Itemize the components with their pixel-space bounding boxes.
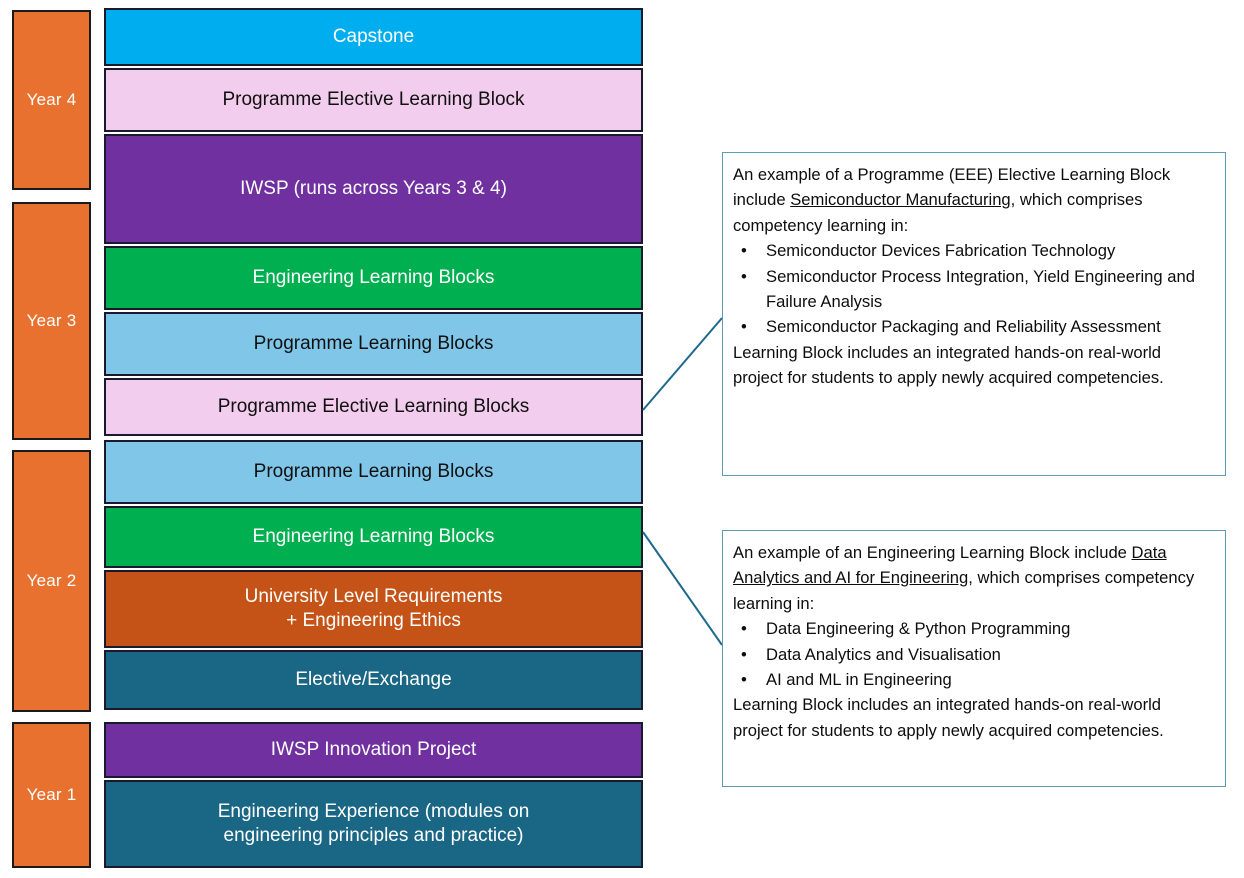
year-label: Year 4 bbox=[27, 90, 77, 110]
block-programme-elective-learning-block-y4: Programme Elective Learning Block bbox=[104, 68, 643, 132]
year-box-year-4: Year 4 bbox=[12, 10, 91, 190]
callout-outro: Learning Block includes an integrated ha… bbox=[733, 692, 1215, 743]
year-box-year-3: Year 3 bbox=[12, 202, 91, 440]
year-label: Year 3 bbox=[27, 311, 77, 331]
block-label: Programme Learning Blocks bbox=[254, 460, 494, 484]
block-iwsp-innovation-project: IWSP Innovation Project bbox=[104, 722, 643, 778]
list-item: Data Engineering & Python Programming bbox=[733, 616, 1215, 641]
block-label: Capstone bbox=[333, 25, 414, 49]
block-programme-elective-learning-blocks-y3: Programme Elective Learning Blocks bbox=[104, 378, 643, 436]
year-label: Year 1 bbox=[27, 785, 77, 805]
block-iwsp: IWSP (runs across Years 3 & 4) bbox=[104, 134, 643, 244]
block-label: IWSP (runs across Years 3 & 4) bbox=[240, 177, 507, 201]
callout-engineering-learning-block: An example of an Engineering Learning Bl… bbox=[722, 530, 1226, 787]
block-label: Engineering Learning Blocks bbox=[253, 266, 495, 290]
block-capstone: Capstone bbox=[104, 8, 643, 66]
list-item: Semiconductor Packaging and Reliability … bbox=[733, 314, 1215, 339]
block-label: University Level Requirements + Engineer… bbox=[245, 585, 503, 634]
list-item: Semiconductor Devices Fabrication Techno… bbox=[733, 238, 1215, 263]
list-item: Semiconductor Process Integration, Yield… bbox=[733, 264, 1215, 315]
year-box-year-2: Year 2 bbox=[12, 450, 91, 712]
block-label: Engineering Experience (modules on engin… bbox=[218, 800, 530, 849]
block-engineering-experience: Engineering Experience (modules on engin… bbox=[104, 780, 643, 868]
connector-engineering bbox=[643, 532, 722, 645]
curriculum-diagram: Year 4 Year 3 Year 2 Year 1 Capstone Pro… bbox=[0, 0, 1244, 878]
block-label: IWSP Innovation Project bbox=[271, 738, 477, 762]
block-label: Programme Learning Blocks bbox=[254, 332, 494, 356]
block-label: Elective/Exchange bbox=[295, 668, 451, 692]
block-label: Programme Elective Learning Block bbox=[222, 88, 524, 112]
list-item: AI and ML in Engineering bbox=[733, 667, 1215, 692]
block-programme-learning-blocks-y2: Programme Learning Blocks bbox=[104, 440, 643, 504]
callout-intro-before: An example of an Engineering Learning Bl… bbox=[733, 543, 1132, 562]
block-label: Programme Elective Learning Blocks bbox=[218, 395, 530, 419]
year-label: Year 2 bbox=[27, 571, 77, 591]
callout-bullet-list: Data Engineering & Python Programming Da… bbox=[733, 616, 1215, 692]
list-item: Data Analytics and Visualisation bbox=[733, 642, 1215, 667]
connector-elective bbox=[643, 318, 722, 410]
year-box-year-1: Year 1 bbox=[12, 722, 91, 868]
block-programme-learning-blocks-y3: Programme Learning Blocks bbox=[104, 312, 643, 376]
callout-intro: An example of an Engineering Learning Bl… bbox=[733, 540, 1215, 616]
block-elective-exchange: Elective/Exchange bbox=[104, 650, 643, 710]
block-engineering-learning-blocks-y3: Engineering Learning Blocks bbox=[104, 246, 643, 310]
callout-bullet-list: Semiconductor Devices Fabrication Techno… bbox=[733, 238, 1215, 340]
callout-intro-link: Semiconductor Manufacturing bbox=[790, 190, 1010, 209]
callout-intro: An example of a Programme (EEE) Elective… bbox=[733, 162, 1215, 238]
callout-outro: Learning Block includes an integrated ha… bbox=[733, 340, 1215, 391]
block-label: Engineering Learning Blocks bbox=[253, 525, 495, 549]
block-university-level-requirements: University Level Requirements + Engineer… bbox=[104, 570, 643, 648]
block-engineering-learning-blocks-y2: Engineering Learning Blocks bbox=[104, 506, 643, 568]
callout-programme-elective: An example of a Programme (EEE) Elective… bbox=[722, 152, 1226, 476]
